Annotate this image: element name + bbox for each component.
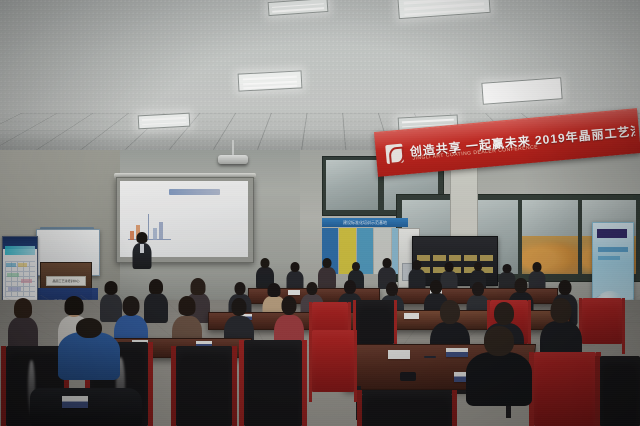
rollup-text-line <box>598 256 620 260</box>
chair-foreground[interactable] <box>600 356 640 426</box>
chair-back <box>582 298 622 344</box>
chair-frame <box>171 346 176 426</box>
chair-frame <box>232 346 237 426</box>
chair-foreground[interactable] <box>176 346 232 426</box>
ceiling-light-panel <box>138 113 191 130</box>
chair-frame <box>622 298 625 354</box>
attendee <box>8 300 38 352</box>
chair-back <box>362 390 452 426</box>
slide-title-bar <box>169 189 220 195</box>
window-glass <box>326 160 378 210</box>
rollup-text-line <box>598 247 628 252</box>
chair-back <box>600 356 640 426</box>
chair-frame <box>148 342 153 426</box>
pen[interactable] <box>424 356 436 358</box>
mobile-phone[interactable] <box>400 372 416 381</box>
notepad <box>446 348 468 357</box>
attendee-foreground <box>466 326 532 402</box>
chair-frame <box>452 390 457 426</box>
chair-back <box>534 352 596 426</box>
ceiling-light-panel <box>238 70 303 91</box>
chair-foreground[interactable] <box>362 390 452 426</box>
chair-back <box>176 346 232 426</box>
presenter-shirt <box>140 244 144 253</box>
attendee-foreground <box>58 318 120 378</box>
notepad <box>388 350 410 359</box>
wall-sign: 建设标准化培训示范基地 <box>322 218 408 227</box>
chair-back <box>244 340 302 426</box>
brand-logo-icon <box>385 144 404 164</box>
presenter <box>132 233 152 269</box>
notepad <box>404 313 419 319</box>
chair[interactable] <box>582 298 622 344</box>
chair-frame <box>357 390 362 426</box>
chair-back <box>312 330 354 392</box>
poster-schedule-grid <box>5 261 35 297</box>
podium-sign: 晶丽工艺漆培训中心 <box>46 276 86 286</box>
chair-frame <box>309 330 312 402</box>
chair[interactable] <box>356 300 394 344</box>
document-in-bag <box>62 396 88 408</box>
presenter-hair <box>137 232 148 243</box>
rollup-tag <box>597 229 627 238</box>
attendee <box>408 260 425 289</box>
ceiling-projector <box>218 155 248 164</box>
chair-back <box>356 300 394 344</box>
poster-title-bar <box>5 246 35 255</box>
chair-foreground[interactable] <box>244 340 302 426</box>
chair-frame <box>302 340 307 426</box>
notepad <box>288 290 300 295</box>
cabinet-shelf <box>417 255 493 261</box>
chair-foreground[interactable] <box>534 352 596 426</box>
chair-frame <box>595 356 600 426</box>
chair-foreground[interactable] <box>312 330 354 392</box>
chair-frame <box>1 346 6 426</box>
conference-room-photo: 创造共享 一起赢未来 2019年晶丽工艺漆经销商大会 JINGLI ART CO… <box>0 0 640 426</box>
chair-frame <box>239 340 244 426</box>
